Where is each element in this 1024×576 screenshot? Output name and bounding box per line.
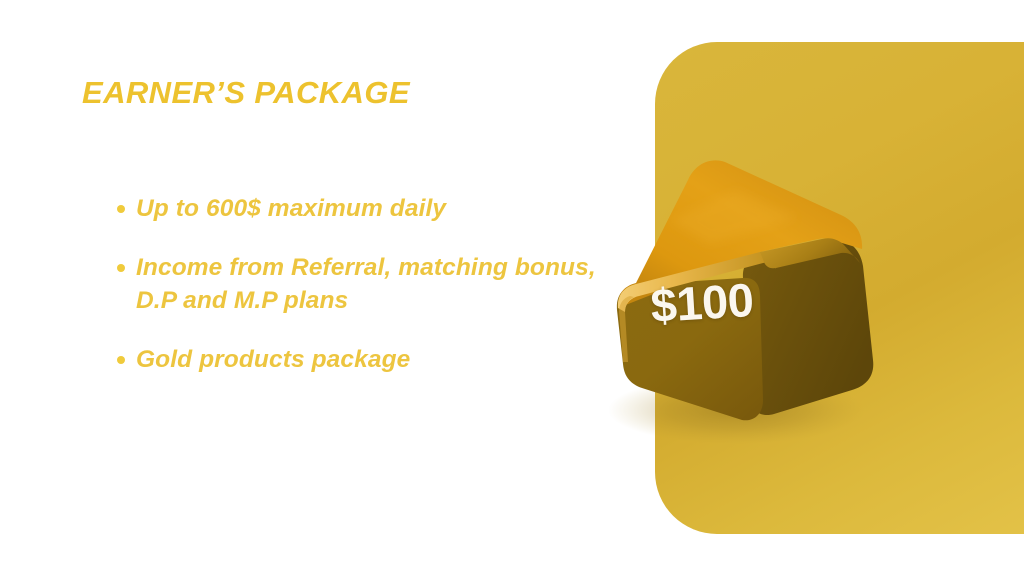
list-item-label: Income from Referral, matching bonus, D.… bbox=[136, 254, 596, 314]
list-item: Income from Referral, matching bonus, D.… bbox=[110, 251, 615, 317]
list-item: Gold products package bbox=[110, 343, 615, 376]
cube-price-label: $100 bbox=[625, 273, 780, 332]
bullet-dot-icon bbox=[117, 356, 125, 364]
page-title: EARNER’S PACKAGE bbox=[82, 74, 410, 112]
list-item-label: Gold products package bbox=[136, 346, 410, 373]
gold-cube-illustration: $100 bbox=[560, 128, 890, 438]
bullet-dot-icon bbox=[117, 264, 125, 272]
list-item: Up to 600$ maximum daily bbox=[110, 192, 615, 225]
slide-canvas: EARNER’S PACKAGE Up to 600$ maximum dail… bbox=[0, 0, 1024, 576]
bullet-dot-icon bbox=[117, 205, 125, 213]
feature-list: Up to 600$ maximum daily Income from Ref… bbox=[110, 192, 615, 376]
list-item-label: Up to 600$ maximum daily bbox=[136, 195, 446, 222]
